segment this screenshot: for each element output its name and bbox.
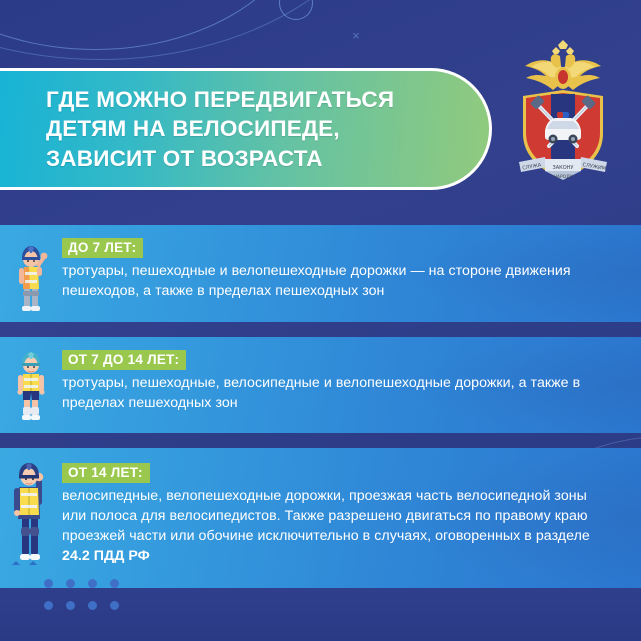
age-rule-block-over-14: ОТ 14 ЛЕТ: велосипедные, велопешеходные … bbox=[0, 448, 641, 588]
rule-text-under-7: тротуары, пешеходные и велопешеходные до… bbox=[62, 261, 592, 301]
age-rule-block-under-7: ДО 7 ЛЕТ: тротуары, пешеходные и велопеш… bbox=[0, 225, 641, 322]
figure-child-cyclist bbox=[0, 225, 62, 317]
rule-text-over-14: велосипедные, велопешеходные дорожки, пр… bbox=[62, 486, 592, 567]
age-badge-over-14: ОТ 14 ЛЕТ: bbox=[62, 463, 150, 483]
decorative-arc-top-left bbox=[0, 0, 310, 50]
rule-text-over-14-main: велосипедные, велопешеходные дорожки, пр… bbox=[62, 488, 590, 544]
age-badge-under-7: ДО 7 ЛЕТ: bbox=[62, 238, 143, 258]
page-title-line-2: ДЕТЯМ НА ВЕЛОСИПЕДЕ, bbox=[46, 114, 394, 143]
page-title-line-1: ГДЕ МОЖНО ПЕРЕДВИГАТЬСЯ bbox=[46, 85, 394, 114]
decorative-circle-icon bbox=[279, 0, 313, 20]
header-banner: ГДЕ МОЖНО ПЕРЕДВИГАТЬСЯ ДЕТЯМ НА ВЕЛОСИП… bbox=[0, 68, 492, 190]
rule-text-over-14-reference: 24.2 ПДД РФ bbox=[62, 548, 150, 564]
mvd-emblem-icon: СЛУЖА ЗАКОНУ СЛУЖИМ НАРОДУ bbox=[515, 38, 611, 186]
decorative-arc-top-left-2 bbox=[0, 0, 400, 60]
rule-content-over-14: ОТ 14 ЛЕТ: велосипедные, велопешеходные … bbox=[62, 448, 641, 567]
page-title: ГДЕ МОЖНО ПЕРЕДВИГАТЬСЯ ДЕТЯМ НА ВЕЛОСИП… bbox=[0, 85, 416, 173]
decorative-cross-icon: × bbox=[350, 30, 362, 42]
infographic-poster: × ГДЕ МОЖНО ПЕРЕДВИГАТЬСЯ ДЕТЯМ НА ВЕЛОС… bbox=[0, 0, 641, 641]
rule-content-under-7: ДО 7 ЛЕТ: тротуары, пешеходные и велопеш… bbox=[62, 225, 641, 301]
rule-content-7-to-14: ОТ 7 ДО 14 ЛЕТ: тротуары, пешеходные, ве… bbox=[62, 337, 641, 413]
decorative-dot-grid-bottom bbox=[44, 579, 119, 610]
svg-text:НАРОДУ: НАРОДУ bbox=[554, 174, 573, 180]
figure-teen-cyclist bbox=[0, 337, 62, 427]
rule-text-7-to-14: тротуары, пешеходные, велосипедные и вел… bbox=[62, 373, 592, 413]
age-rule-block-7-to-14: ОТ 7 ДО 14 ЛЕТ: тротуары, пешеходные, ве… bbox=[0, 337, 641, 433]
page-title-line-3: ЗАВИСИТ ОТ ВОЗРАСТА bbox=[46, 144, 394, 173]
figure-older-cyclist bbox=[0, 448, 62, 569]
age-badge-7-to-14: ОТ 7 ДО 14 ЛЕТ: bbox=[62, 350, 186, 370]
svg-text:ЗАКОНУ: ЗАКОНУ bbox=[553, 165, 574, 171]
